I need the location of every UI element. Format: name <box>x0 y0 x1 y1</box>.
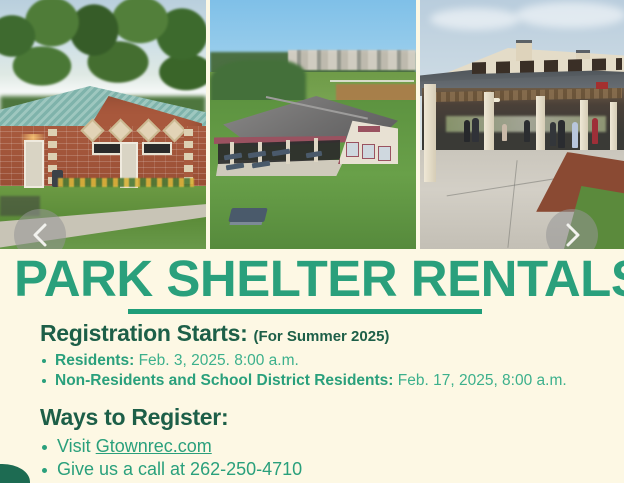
support-column <box>314 138 318 162</box>
building-window <box>346 142 359 157</box>
list-item: Residents: Feb. 3, 2025. 8:00 a.m. <box>40 351 567 371</box>
carousel-slide-open-pavilion[interactable] <box>420 0 624 249</box>
person <box>502 124 507 141</box>
slot-window <box>92 142 122 155</box>
building-window <box>362 144 375 159</box>
list-item: Non-Residents and School District Reside… <box>40 371 567 391</box>
ways-to-register-list: Visit Gtownrec.com Give us a call at 262… <box>40 435 302 482</box>
registration-item-value: Feb. 17, 2025, 8:00 a.m. <box>398 372 567 389</box>
person <box>558 120 565 148</box>
gtownrec-website-link[interactable]: Gtownrec.com <box>96 436 212 456</box>
list-item: Visit Gtownrec.com <box>40 435 302 458</box>
person <box>472 118 479 142</box>
building-window <box>378 146 391 161</box>
slot-window <box>142 142 172 155</box>
registration-list: Residents: Feb. 3, 2025. 8:00 a.m. Non-R… <box>40 351 567 390</box>
registration-heading-text: Registration Starts: <box>40 320 247 346</box>
flyer-content: PARK SHELTER RENTALS Registration Starts… <box>0 249 624 483</box>
pavilion-column <box>610 102 617 154</box>
backstop-fence <box>330 80 414 82</box>
registration-section: Registration Starts: (For Summer 2025) R… <box>40 320 567 390</box>
person <box>592 118 598 144</box>
person <box>524 120 530 142</box>
ways-item-phone: Give us a call at 262-250-4710 <box>57 459 302 479</box>
page-title: PARK SHELTER RENTALS <box>14 253 614 304</box>
title-underline-rule <box>128 309 482 314</box>
ways-to-register-section: Ways to Register: Visit Gtownrec.com Giv… <box>40 404 302 482</box>
red-sign <box>596 82 608 89</box>
registration-item-label: Non-Residents and School District Reside… <box>55 372 393 389</box>
registration-heading: Registration Starts: (For Summer 2025) <box>40 320 567 347</box>
person <box>464 120 470 142</box>
registration-item-label: Residents: <box>55 352 134 369</box>
photo-carousel[interactable] <box>0 0 624 249</box>
cloud <box>430 8 520 30</box>
registration-subnote: (For Summer 2025) <box>254 328 390 345</box>
list-item: Give us a call at 262-250-4710 <box>40 458 302 481</box>
carousel-slide-aerial-pavilion[interactable] <box>210 0 416 249</box>
entry-door <box>24 140 44 188</box>
gable-trim <box>358 126 380 132</box>
registration-item-value: Feb. 3, 2025. 8:00 a.m. <box>139 352 299 369</box>
ways-item-prefix: Visit <box>57 436 96 456</box>
ways-to-register-heading: Ways to Register: <box>40 404 302 431</box>
person <box>550 122 556 146</box>
person <box>572 122 578 148</box>
stone-quoin <box>184 128 193 184</box>
chevron-left-icon <box>29 221 51 249</box>
distant-houses <box>288 50 416 70</box>
pavilion-column-front <box>424 84 436 182</box>
cloud <box>516 2 624 28</box>
picnic-table-foreground <box>228 208 267 222</box>
flower-bed <box>58 178 194 187</box>
chevron-right-icon <box>561 221 583 249</box>
park-shelter-rentals-flyer: PARK SHELTER RENTALS Registration Starts… <box>0 0 624 483</box>
